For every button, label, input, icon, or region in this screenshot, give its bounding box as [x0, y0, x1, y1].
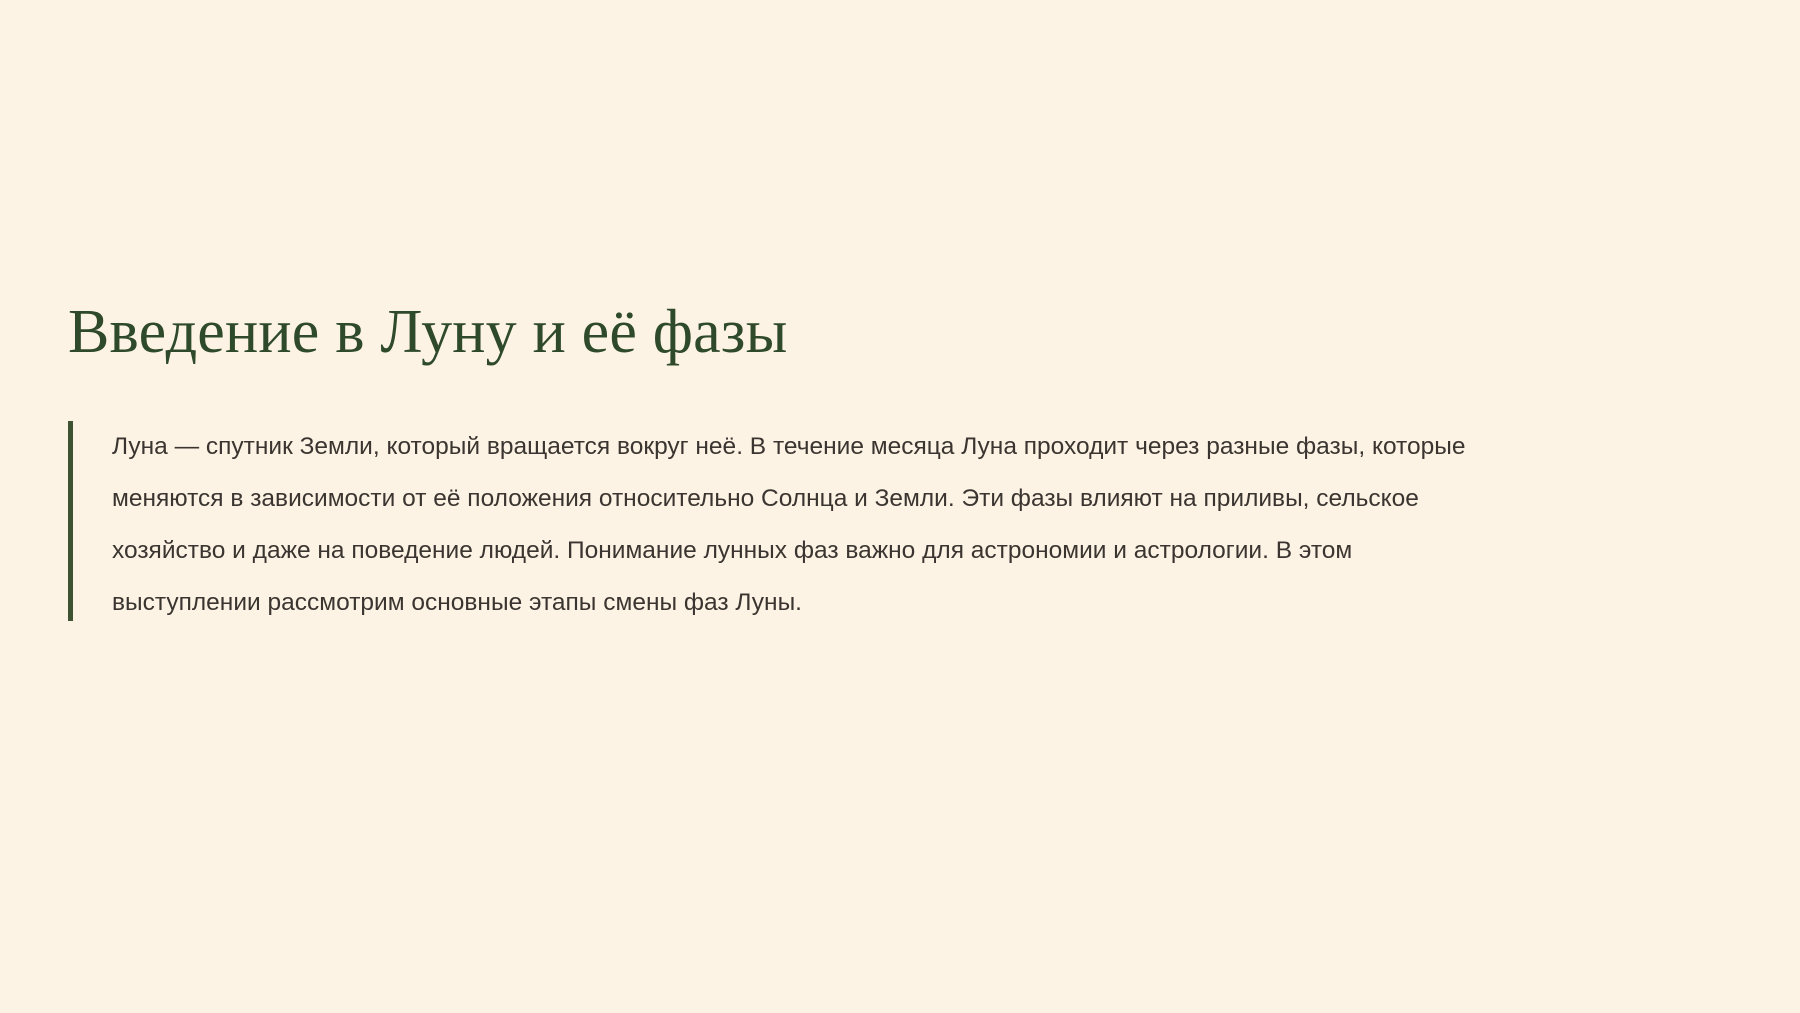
slide-content: Введение в Луну и её фазы Луна — спутник…	[68, 296, 1748, 629]
page-title: Введение в Луну и её фазы	[68, 296, 1748, 369]
slide-canvas: Введение в Луну и её фазы Луна — спутник…	[0, 0, 1800, 1013]
body-block: Луна — спутник Земли, который вращается …	[68, 421, 1748, 629]
body-paragraph: Луна — спутник Земли, который вращается …	[112, 421, 1502, 629]
left-accent-bar	[68, 421, 73, 621]
